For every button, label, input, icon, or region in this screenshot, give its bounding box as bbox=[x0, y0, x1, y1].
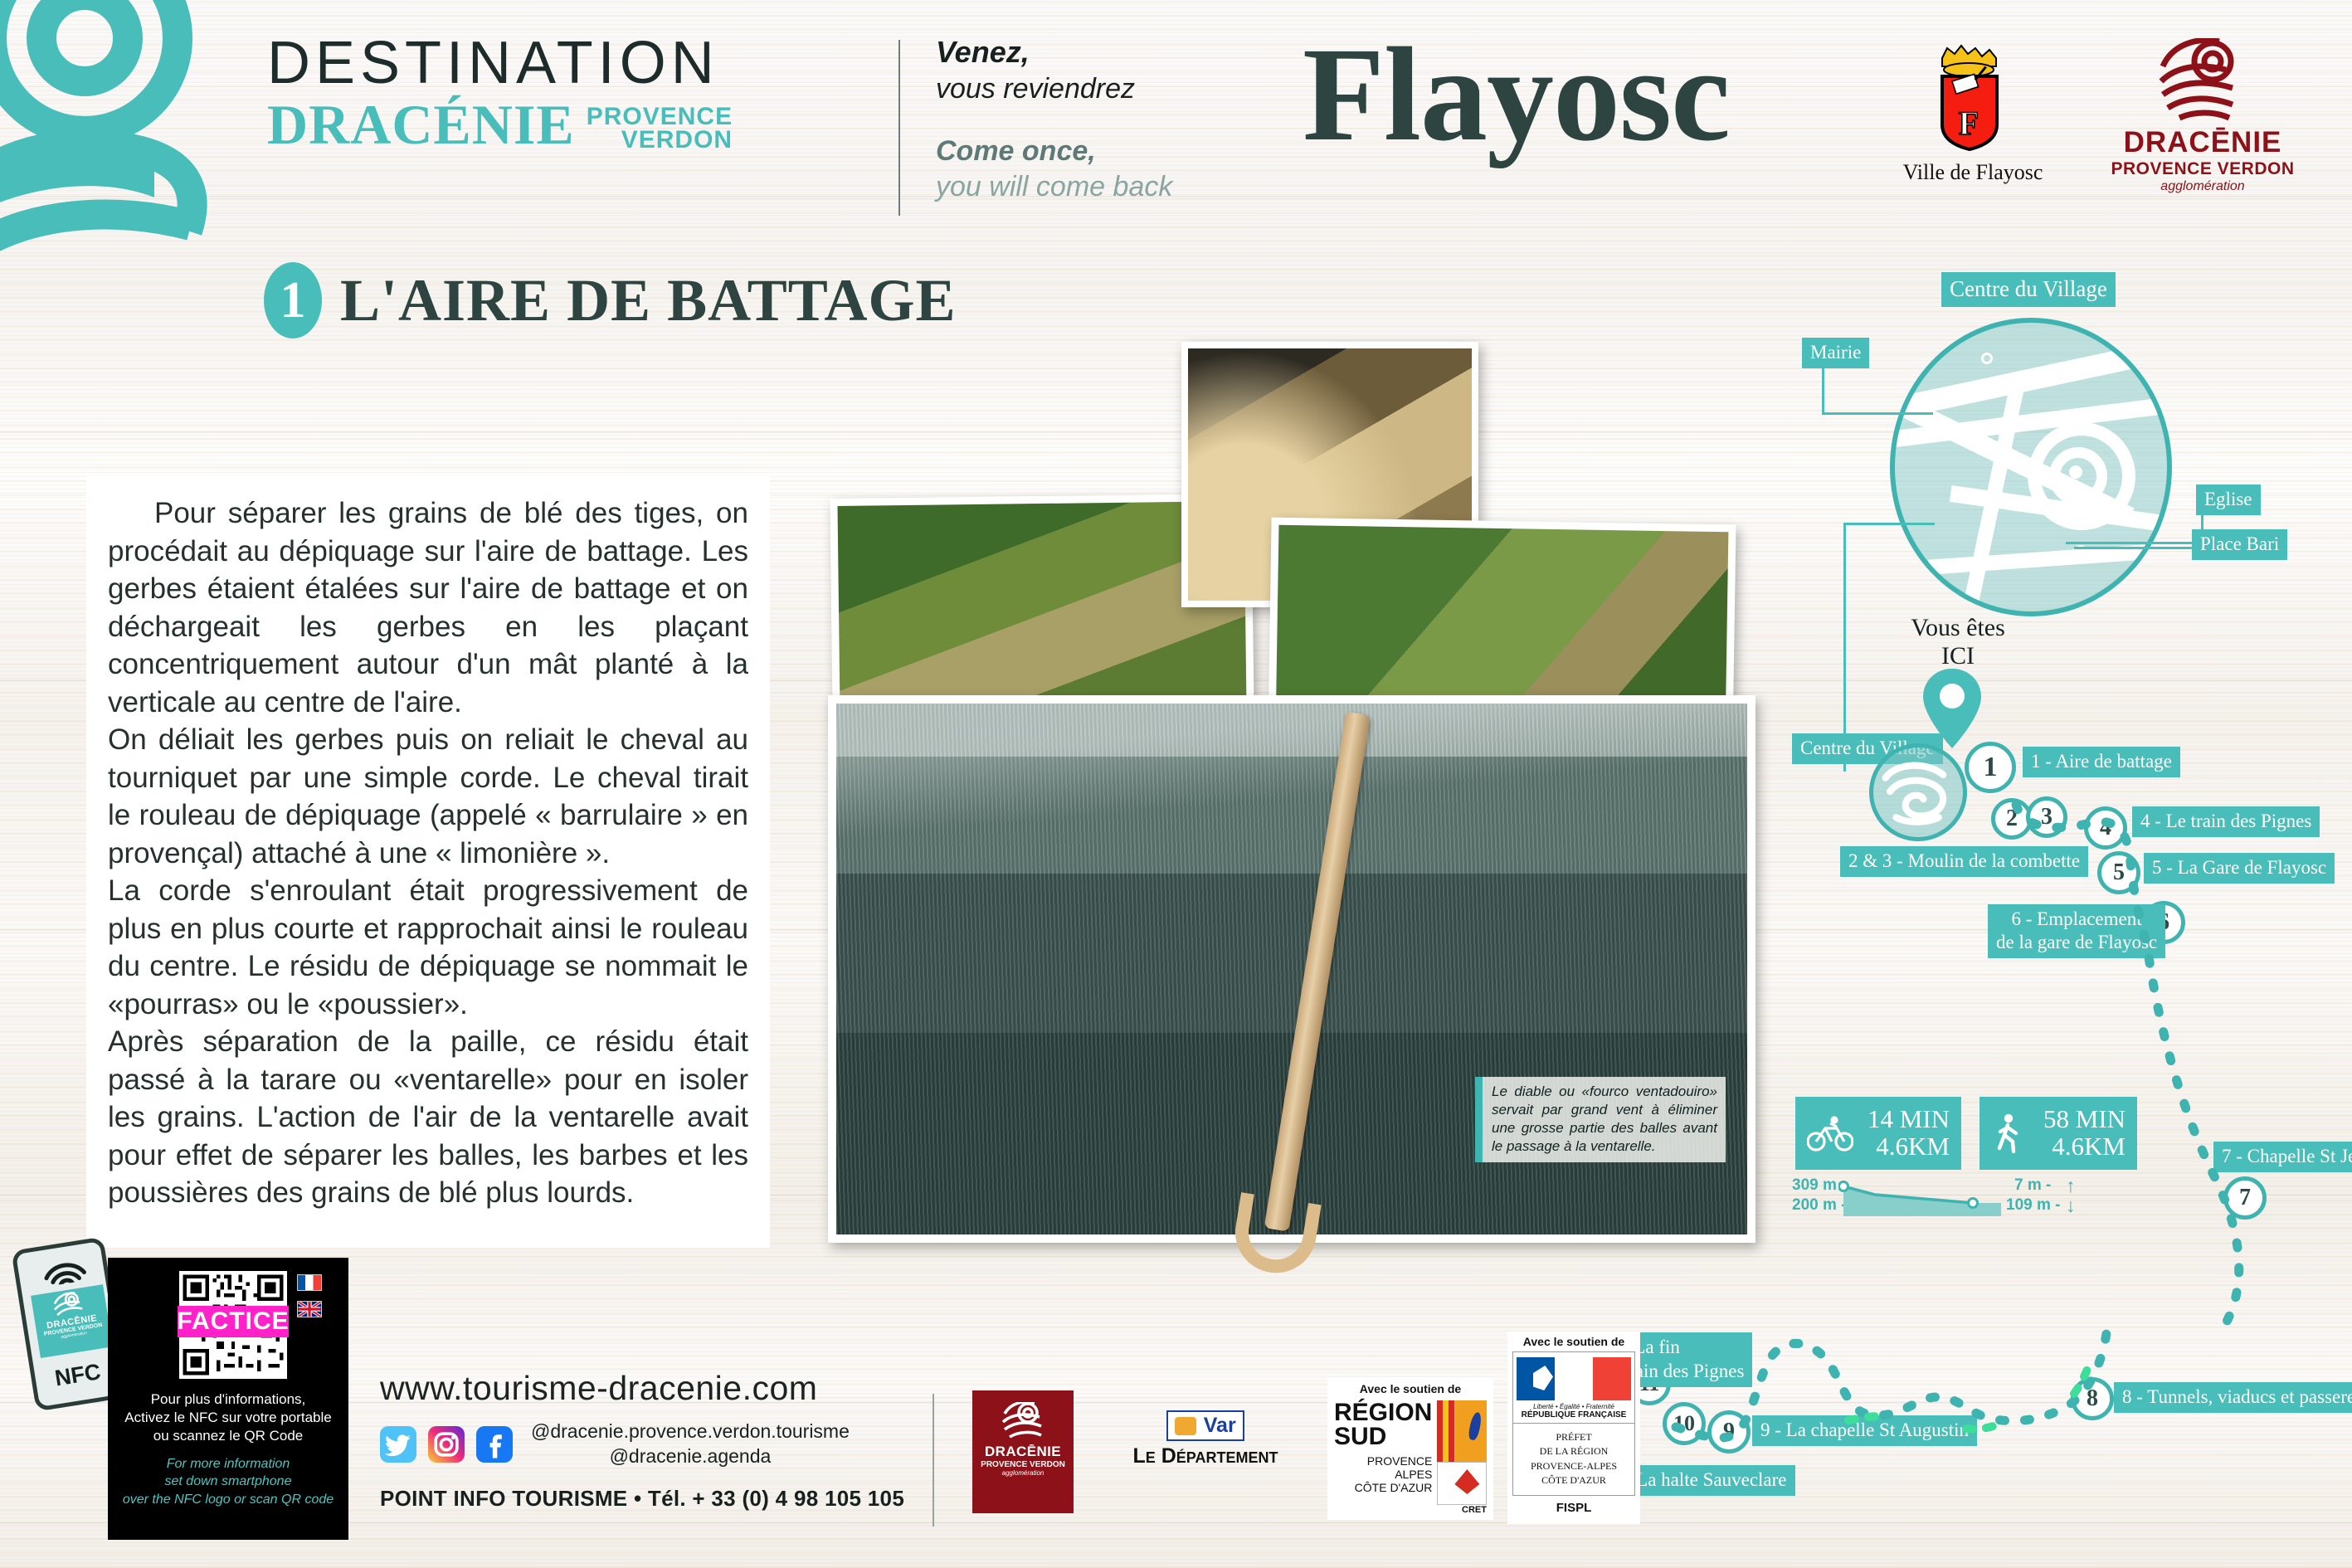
nfc-wave-icon bbox=[38, 1250, 90, 1288]
region-sud-line1: RÉGION bbox=[1334, 1400, 1432, 1424]
walk-distance: 4.6KM bbox=[2034, 1133, 2126, 1161]
section-title-text: L'AIRE DE BATTAGE bbox=[340, 266, 956, 335]
var-text: Var bbox=[1204, 1414, 1236, 1437]
rf-name: RÉPUBLIQUE FRANÇAISE bbox=[1517, 1410, 1631, 1419]
region-support-text: Avec le soutien de bbox=[1334, 1382, 1487, 1395]
bike-info-box: 14 MIN 4.6KM bbox=[1795, 1097, 1961, 1170]
header-divider bbox=[898, 40, 900, 216]
region-cret-text: CRET bbox=[1437, 1505, 1487, 1515]
brand-destination-text: DESTINATION bbox=[267, 33, 831, 93]
info-panel: DESTINATION DRACÉNIE PROVENCE VERDON Ven… bbox=[0, 0, 2352, 1568]
social-handles: @dracenie.provence.verdon.tourisme @drac… bbox=[531, 1419, 850, 1469]
footer-divider bbox=[933, 1394, 934, 1527]
prefet-line2: DE LA RÉGION bbox=[1515, 1444, 1633, 1458]
instagram-camera-icon bbox=[428, 1426, 465, 1463]
bike-time: 14 MIN bbox=[1863, 1106, 1950, 1133]
dracenie-logo: DRACĒNIE PROVENCE VERDON agglomération bbox=[2091, 38, 2315, 194]
prefet-block: PRÉFET DE LA RÉGION PROVENCE-ALPES CÔTE … bbox=[1512, 1424, 1635, 1496]
article-paragraph: Pour séparer les grains de blé des tiges… bbox=[108, 494, 748, 721]
social-handle-2: @dracenie.agenda bbox=[531, 1444, 850, 1469]
dracenie-fingerprint-icon-footer bbox=[1000, 1402, 1046, 1442]
region-sud-line4: ALPES bbox=[1334, 1468, 1432, 1481]
dracenie-logo-name: DRACĒNIE bbox=[2091, 126, 2315, 159]
tagline-en-line1: Come once, bbox=[936, 135, 1268, 168]
you-are-here-line1: Vous êtes bbox=[1879, 614, 2037, 642]
partner-dracenie-sub: PROVENCE VERDON bbox=[972, 1460, 1074, 1469]
nfc-fr-line2: Activez le NFC sur votre portable bbox=[116, 1409, 340, 1427]
elevation-profile: 309 m - 200 m - 7 m - ↑ 109 m - ↓ bbox=[1792, 1178, 2140, 1230]
dracenie-logo-sub: PROVENCE VERDON bbox=[2091, 159, 2315, 179]
waypoint-label-1: 1 - Aire de battage bbox=[2023, 747, 2180, 777]
elevation-ascent-label: 7 m - bbox=[2014, 1176, 2051, 1195]
brand-provence-text: PROVENCE bbox=[587, 105, 733, 129]
partner-departement-var: Var Le Département bbox=[1118, 1410, 1293, 1468]
nfc-fr-line3: ou scannez le QR Code bbox=[116, 1427, 340, 1445]
you-are-here-line2: ICI bbox=[1879, 642, 2037, 670]
region-sud-shield-icon bbox=[1437, 1400, 1487, 1462]
flayosc-crest-logo: F Ville de Flayosc bbox=[1898, 43, 2048, 185]
map-marker-mairie bbox=[1981, 353, 1993, 364]
header: DESTINATION DRACÉNIE PROVENCE VERDON Ven… bbox=[0, 0, 2352, 249]
elevation-descent-arrow: ↓ bbox=[2066, 1195, 2076, 1217]
walking-icon bbox=[1991, 1113, 2024, 1153]
social-links: @dracenie.provence.verdon.tourisme @drac… bbox=[380, 1419, 928, 1469]
prefet-support-text: Avec le soutien de bbox=[1512, 1335, 1635, 1348]
partner-dracenie-name: DRACĒNIE bbox=[972, 1444, 1074, 1460]
partner-region-sud: Avec le soutien de RÉGION SUD PROVENCE A… bbox=[1327, 1377, 1493, 1520]
facebook-f-icon bbox=[476, 1426, 513, 1463]
footer-contact: www.tourisme-dracenie.com @dr bbox=[380, 1369, 928, 1512]
flag-france-icon bbox=[297, 1274, 322, 1291]
brand-dracenie-text: DRACÉNIE bbox=[267, 98, 575, 152]
nfc-en-line3: over the NFC logo or scan QR code bbox=[116, 1491, 340, 1508]
article-paragraph: Après séparation de la paille, ce résidu… bbox=[108, 1023, 748, 1212]
svg-text:F: F bbox=[1959, 105, 1979, 142]
article-paragraph: La corde s'enroulant était progressiveme… bbox=[108, 872, 748, 1023]
tagline-en-line2: you will come back bbox=[936, 171, 1268, 203]
article-body: Pour séparer les grains de blé des tiges… bbox=[108, 494, 748, 1212]
region-sud-line5: CÔTE D'AZUR bbox=[1334, 1481, 1432, 1494]
section-heading: 1 L'AIRE DE BATTAGE bbox=[264, 262, 956, 338]
walk-info-box: 58 MIN 4.6KM bbox=[1979, 1097, 2137, 1170]
map-title-tag: Centre du Village bbox=[1941, 272, 2116, 307]
tagline-fr-line2: vous reviendrez bbox=[936, 73, 1268, 105]
section-number-badge: 1 bbox=[264, 262, 322, 338]
tagline-block: Venez, vous reviendrez Come once, you wi… bbox=[936, 35, 1268, 203]
brand-provence-verdon: PROVENCE VERDON bbox=[587, 105, 733, 151]
dracenie-logo-agglo: agglomération bbox=[2091, 179, 2315, 194]
point-info-tourisme: POINT INFO TOURISME • Tél. + 33 (0) 4 98… bbox=[380, 1486, 928, 1512]
connector-mairie bbox=[1822, 365, 1933, 415]
location-pin-icon bbox=[1923, 669, 1981, 748]
twitter-bird-icon bbox=[380, 1426, 416, 1463]
map-marker-eglise bbox=[2069, 465, 2082, 479]
union-jack-icon bbox=[298, 1302, 321, 1317]
flayosc-crest-label: Ville de Flayosc bbox=[1898, 160, 2048, 185]
nfc-fr-line1: Pour plus d'informations, bbox=[116, 1390, 340, 1409]
nfc-en-line1: For more information bbox=[116, 1455, 340, 1473]
photo-caption: Le diable ou «fourco ventadouiro» servai… bbox=[1475, 1077, 1726, 1162]
facebook-icon[interactable] bbox=[476, 1426, 513, 1463]
region-sud-line3: PROVENCE bbox=[1334, 1454, 1432, 1468]
flag-uk-icon bbox=[297, 1301, 322, 1317]
nfc-en-line2: set down smartphone bbox=[116, 1473, 340, 1490]
partner-prefet: Avec le soutien de Liberté • Égalité • F… bbox=[1507, 1332, 1640, 1524]
region-sud-line2: SUD bbox=[1334, 1424, 1432, 1449]
you-are-here-label: Vous êtes ICI bbox=[1879, 614, 2037, 670]
route-path-lower bbox=[1626, 1327, 2240, 1535]
fispl-label: FISPL bbox=[1512, 1501, 1635, 1515]
prefet-line4: CÔTE D'AZUR bbox=[1515, 1473, 1633, 1488]
brand-verdon-text: VERDON bbox=[587, 129, 733, 152]
partner-dracenie: DRACĒNIE PROVENCE VERDON agglomération bbox=[972, 1390, 1074, 1513]
prefet-line1: PRÉFET bbox=[1515, 1430, 1633, 1444]
map-label-mairie: Mairie bbox=[1802, 338, 1869, 368]
tagline-fr-line1: Venez, bbox=[936, 35, 1268, 70]
coat-of-arms-icon: F bbox=[1927, 43, 2018, 151]
qr-info-card: FACTICE Pour plus d'informations, Active… bbox=[108, 1258, 348, 1540]
map-label-place-bari: Place Bari bbox=[2192, 529, 2287, 560]
factice-overlay-badge: FACTICE bbox=[178, 1306, 289, 1337]
elevation-ascent-arrow: ↑ bbox=[2066, 1175, 2076, 1197]
elevation-descent-label: 109 m - bbox=[2006, 1196, 2060, 1215]
var-map-icon bbox=[1175, 1417, 1196, 1435]
elevation-chart bbox=[1838, 1180, 2004, 1218]
rf-motto: Liberté • Égalité • Fraternité bbox=[1517, 1403, 1631, 1410]
instagram-icon[interactable] bbox=[428, 1426, 465, 1463]
walk-time: 58 MIN bbox=[2034, 1106, 2126, 1133]
connector-place-bari bbox=[2074, 531, 2199, 549]
page-title: Flayosc bbox=[1303, 18, 1730, 173]
article-card: Pour séparer les grains de blé des tiges… bbox=[86, 476, 770, 1248]
article-paragraph: On déliait les gerbes puis on reliait le… bbox=[108, 721, 748, 872]
partner-dracenie-agglo: agglomération bbox=[972, 1469, 1074, 1477]
social-handle-1: @dracenie.provence.verdon.tourisme bbox=[531, 1419, 850, 1444]
var-logo: Var bbox=[1166, 1410, 1244, 1441]
website-url[interactable]: www.tourisme-dracenie.com bbox=[380, 1369, 928, 1408]
marianne-icon bbox=[1517, 1357, 1631, 1400]
twitter-icon[interactable] bbox=[380, 1426, 416, 1463]
brand-logo: DESTINATION DRACÉNIE PROVENCE VERDON bbox=[267, 33, 831, 152]
prefet-line3: PROVENCE-ALPES bbox=[1515, 1459, 1633, 1473]
map-label-eglise: Eglise bbox=[2196, 485, 2261, 515]
departement-label: Le Département bbox=[1118, 1444, 1293, 1468]
bike-distance: 4.6KM bbox=[1863, 1133, 1950, 1161]
republique-francaise-block: Liberté • Égalité • Fraternité RÉPUBLIQU… bbox=[1512, 1351, 1635, 1424]
bicycle-icon bbox=[1807, 1115, 1853, 1152]
region-sud-crest-icon bbox=[1437, 1462, 1487, 1505]
dracenie-fingerprint-icon bbox=[2153, 38, 2252, 124]
phone-dracenie-logo: DRACĒNIE PROVENCE VERDON agglomération bbox=[31, 1284, 113, 1358]
